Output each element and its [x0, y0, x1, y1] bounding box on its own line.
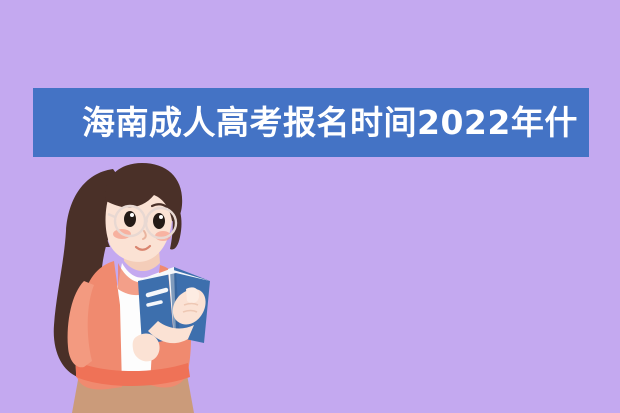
right-eye-icon: [153, 213, 165, 229]
face-shape: [106, 175, 173, 262]
left-sleeve-shape: [68, 281, 94, 367]
left-eye-highlight-icon: [130, 213, 134, 217]
finger-line-icon: [183, 311, 197, 313]
right-eye-highlight-icon: [159, 215, 163, 219]
inner-shirt-shape: [110, 263, 174, 381]
hair-temple-icon: [96, 193, 110, 247]
top-right-shape: [150, 265, 191, 387]
skirt-shape: [72, 369, 194, 413]
left-hand-icon: [133, 334, 160, 362]
top-fold-shape: [118, 263, 164, 295]
neck-shape: [122, 235, 160, 271]
left-eyebrow-icon: [122, 202, 138, 205]
book-spine-shape: [170, 271, 180, 339]
nose-icon: [143, 231, 146, 239]
hair-side-strand-icon: [168, 195, 182, 250]
book-text-line-icon: [148, 302, 161, 305]
right-hand-icon: [173, 289, 206, 324]
page-title: 海南成人高考报名时间2022年什: [82, 106, 578, 139]
book-top-edge-shape: [138, 269, 210, 281]
book-right-cover-shape: [174, 267, 210, 343]
right-eyebrow-icon: [152, 204, 167, 207]
waistband-shape: [76, 361, 190, 386]
thumb-icon: [186, 287, 199, 303]
woman-reading-book-illustration: [18, 155, 258, 413]
page-canvas: 海南成人高考报名时间2022年什: [0, 0, 620, 413]
title-banner: 海南成人高考报名时间2022年什: [33, 88, 589, 157]
hair-front-icon: [105, 163, 182, 221]
glasses-icon: [108, 206, 176, 238]
book-text-line-icon: [148, 290, 166, 295]
mouth-icon: [136, 246, 150, 250]
book-page-left-shape: [168, 267, 180, 337]
top-left-shape: [75, 261, 122, 389]
hair-back-icon: [54, 169, 136, 378]
left-cheek-icon: [113, 229, 131, 239]
right-cheek-icon: [155, 231, 171, 241]
right-forearm-shape: [148, 321, 194, 343]
left-eye-icon: [124, 211, 136, 227]
finger-line-icon: [184, 304, 198, 306]
book-left-cover-shape: [138, 271, 174, 345]
